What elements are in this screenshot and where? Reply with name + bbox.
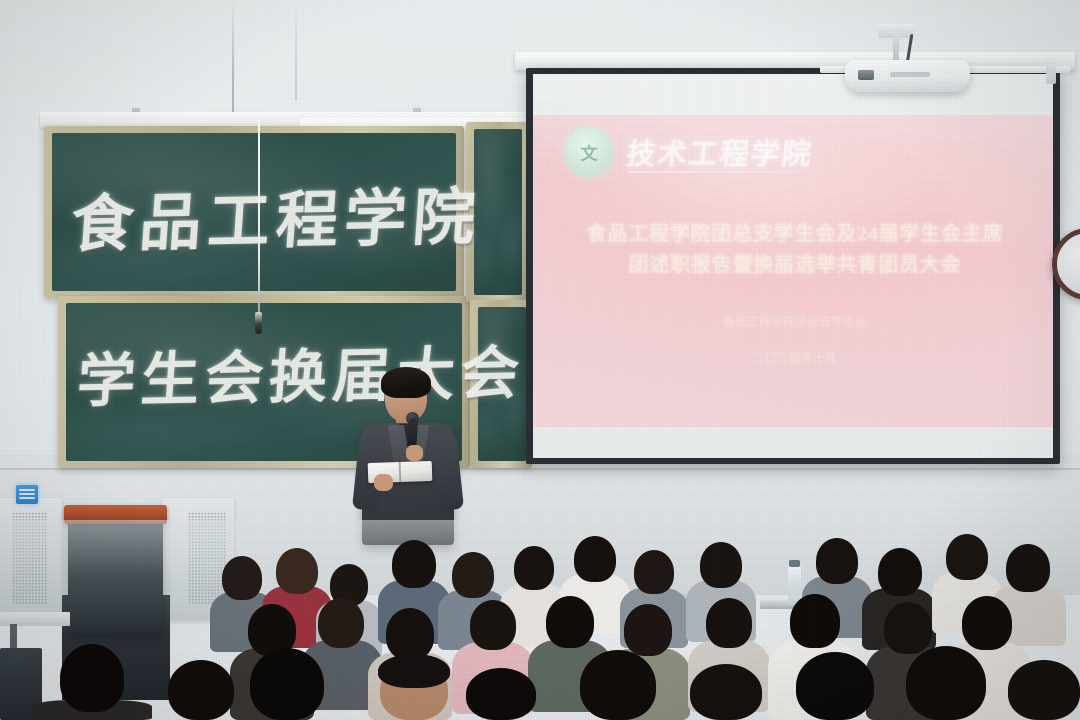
audience-head xyxy=(884,602,932,654)
speaker-grille-left xyxy=(12,512,48,604)
blackboard-pull-cord-tip[interactable] xyxy=(255,312,262,334)
wall-seam xyxy=(0,468,1080,470)
slide-brand-underline xyxy=(629,171,829,173)
audience-head-front xyxy=(466,668,536,720)
ceiling-panel-seam xyxy=(295,0,297,100)
audience-head xyxy=(878,548,922,596)
blue-wall-sign xyxy=(16,485,38,504)
blackboard-heading-line2: 学生会换届大会 xyxy=(75,326,528,419)
university-logo-icon: 文 xyxy=(564,127,614,177)
audience-head-front xyxy=(60,644,124,712)
audience-head xyxy=(546,596,594,648)
audience-head xyxy=(634,550,674,594)
audience-head-front xyxy=(690,664,762,720)
lectern-body xyxy=(68,508,163,633)
logo-glyph: 文 xyxy=(581,140,598,165)
projection-screen-surface: 文 技术工程学院 食品工程学院团总支学生会及24届学生会主席团述职报告暨换届选举… xyxy=(533,74,1053,458)
audience-head-front xyxy=(250,648,324,720)
blackboard-pull-cord[interactable] xyxy=(258,120,260,320)
projector-vent xyxy=(890,72,930,77)
speaker-grille-right xyxy=(188,512,226,604)
audience-head xyxy=(392,540,436,588)
audience-head-front xyxy=(168,660,234,720)
audience-head xyxy=(790,594,840,648)
audience-head xyxy=(470,600,516,650)
water-bottle-cap xyxy=(789,560,800,567)
audience-head xyxy=(816,538,858,584)
projector-lens-icon xyxy=(858,70,874,80)
audience-head xyxy=(706,598,752,648)
audience-head xyxy=(946,534,988,580)
presentation-slide: 文 技术工程学院 食品工程学院团总支学生会及24届学生会主席团述职报告暨换届选举… xyxy=(533,115,1053,427)
audience-head xyxy=(962,596,1012,650)
projector-wall-bracket xyxy=(1046,58,1056,84)
audience-head xyxy=(514,546,554,590)
presenter-hair xyxy=(381,367,431,398)
lectern-worktop[interactable] xyxy=(64,505,167,524)
audience-hair-front xyxy=(378,654,450,688)
audience-head xyxy=(276,548,318,594)
slide-subtitle-line2: 二〇二四年十月 xyxy=(617,347,973,369)
projector-drop-pole xyxy=(893,28,899,62)
audience-head xyxy=(386,608,434,660)
audience-head xyxy=(222,556,262,600)
audience-head-front xyxy=(796,652,874,720)
audience-head-front xyxy=(906,646,986,720)
audience-head xyxy=(452,552,494,598)
presenter-hand-left xyxy=(374,474,393,491)
audience-head-front xyxy=(580,650,656,720)
audience-head xyxy=(1006,544,1050,592)
lecture-hall-photo: 食品工程学院 学生会换届大会 文 技术工程学院 食品工程学院团总支学生会及24届… xyxy=(0,0,1080,720)
audience-head xyxy=(318,598,364,648)
blackboard-heading-line1: 食品工程学院 xyxy=(69,166,485,264)
ceiling-panel-seam xyxy=(232,0,234,118)
slide-brand-text: 技术工程学院 xyxy=(624,131,815,173)
audience-head xyxy=(700,542,742,588)
audience-head xyxy=(624,604,672,656)
slide-subtitle-line1: 食品工程学院团总支学生会 xyxy=(617,311,973,333)
slide-title-text: 食品工程学院团总支学生会及24届学生会主席团述职报告暨换届选举共青团员大会 xyxy=(577,219,1013,281)
audience-head xyxy=(574,536,616,582)
presenter-hand-right xyxy=(406,445,423,461)
audience-head-front xyxy=(1008,660,1080,720)
